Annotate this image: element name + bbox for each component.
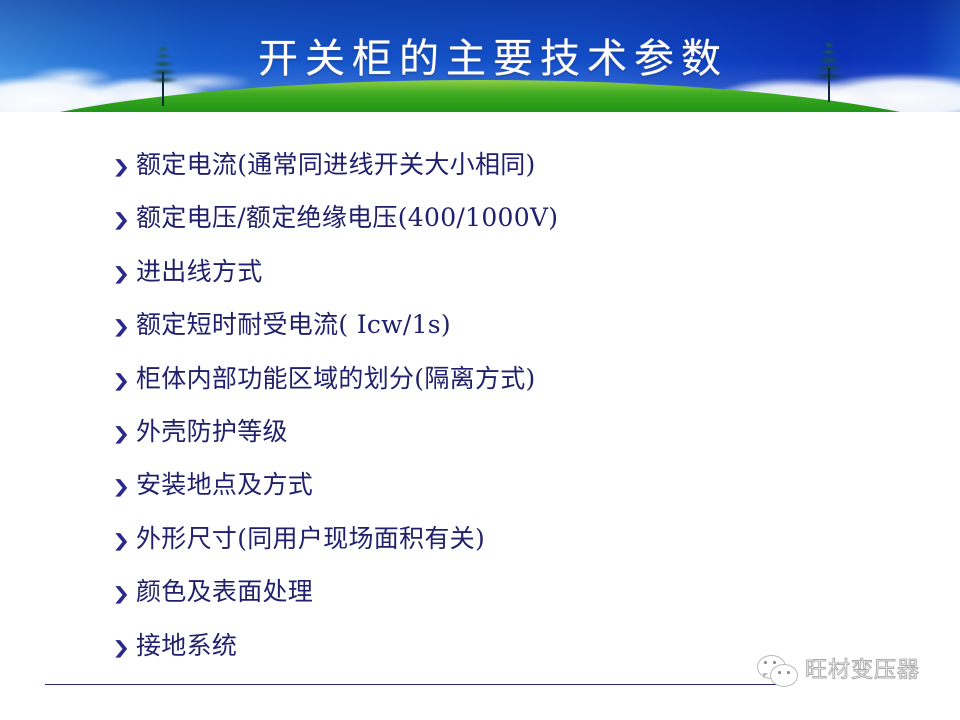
list-item: ❯ 进出线方式 xyxy=(112,259,892,312)
wechat-eye xyxy=(778,671,781,674)
chevron-check-bullet-icon: ❯ xyxy=(112,372,140,389)
list-item-label: 颜色及表面处理 xyxy=(136,579,313,604)
wechat-eye xyxy=(764,661,767,664)
slide-body: ❯ 额定电流(通常同进线开关大小相同) ❯ 额定电压/额定绝缘电压(400/10… xyxy=(0,112,960,720)
watermark-label: 旺材变压器 xyxy=(805,660,920,682)
footer-divider xyxy=(45,684,790,685)
chevron-check-bullet-icon: ❯ xyxy=(112,319,140,336)
watermark: 旺材变压器 xyxy=(757,648,942,694)
list-item-label: 额定电压/额定绝缘电压(400/1000V) xyxy=(136,205,558,230)
list-item-label: 额定短时耐受电流( Icw/1s) xyxy=(136,312,451,337)
list-item: ❯ 柜体内部功能区域的划分(隔离方式) xyxy=(112,366,892,419)
list-item: ❯ 外形尺寸(同用户现场面积有关) xyxy=(112,526,892,579)
title-banner: 开关柜的主要技术参数 xyxy=(0,0,960,112)
list-item-label: 外壳防护等级 xyxy=(136,419,288,444)
list-item: ❯ 额定电流(通常同进线开关大小相同) xyxy=(112,152,892,205)
list-item: ❯ 额定电压/额定绝缘电压(400/1000V) xyxy=(112,205,892,258)
list-item-label: 安装地点及方式 xyxy=(136,472,313,497)
wechat-bubble-front xyxy=(770,664,798,687)
chevron-check-bullet-icon: ❯ xyxy=(112,212,140,229)
list-item-label: 接地系统 xyxy=(136,633,237,658)
wechat-bubble-tail xyxy=(763,673,768,678)
chevron-check-bullet-icon: ❯ xyxy=(112,479,140,496)
list-item-label: 柜体内部功能区域的划分(隔离方式) xyxy=(136,366,536,391)
wechat-eye xyxy=(773,661,776,664)
chevron-check-bullet-icon: ❯ xyxy=(112,159,140,176)
chevron-check-bullet-icon: ❯ xyxy=(112,639,140,656)
list-item: ❯ 额定短时耐受电流( Icw/1s) xyxy=(112,312,892,365)
list-item-label: 外形尺寸(同用户现场面积有关) xyxy=(136,526,485,551)
list-item: ❯ 外壳防护等级 xyxy=(112,419,892,472)
chevron-check-bullet-icon: ❯ xyxy=(112,586,140,603)
list-item: ❯ 安装地点及方式 xyxy=(112,472,892,525)
chevron-check-bullet-icon: ❯ xyxy=(112,266,140,283)
list-item: ❯ 颜色及表面处理 xyxy=(112,579,892,632)
list-item-label: 额定电流(通常同进线开关大小相同) xyxy=(136,152,536,177)
bullet-list: ❯ 额定电流(通常同进线开关大小相同) ❯ 额定电压/额定绝缘电压(400/10… xyxy=(112,152,892,686)
wechat-eye xyxy=(787,671,790,674)
chevron-check-bullet-icon: ❯ xyxy=(112,426,140,443)
wechat-logo-icon xyxy=(757,653,801,689)
list-item-label: 进出线方式 xyxy=(136,259,263,284)
chevron-check-bullet-icon: ❯ xyxy=(112,532,140,549)
slide-title: 开关柜的主要技术参数 xyxy=(0,26,960,84)
